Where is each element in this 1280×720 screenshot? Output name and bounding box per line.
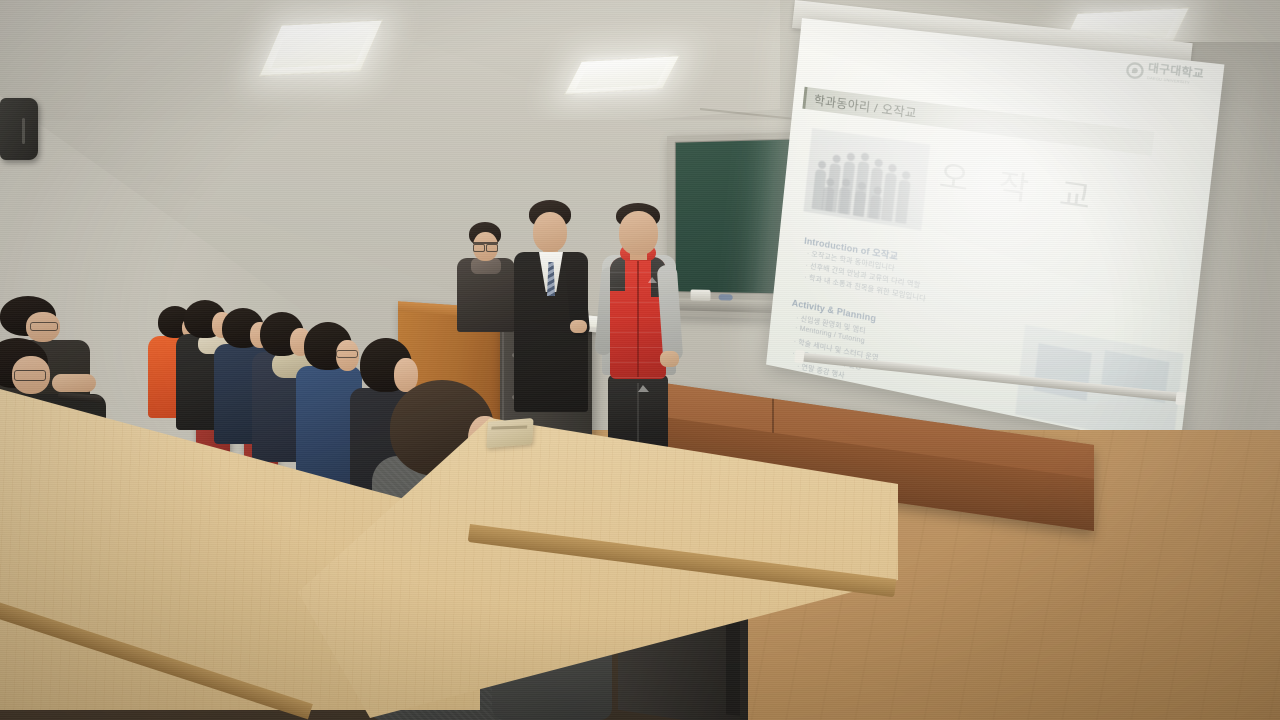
eyeglasses-icon	[30, 322, 58, 331]
screen-endcap-left	[794, 350, 804, 364]
eyeglasses-icon	[473, 242, 498, 248]
screen-endcap-right	[1175, 392, 1185, 406]
chalk-piece	[719, 294, 733, 300]
classroom-presentation-photo: 대구대학교 DAEGU UNIVERSITY 학과동아리 / 오작교 오 작 교…	[0, 0, 1280, 720]
slide-title: 학과동아리 / 오작교	[806, 90, 918, 122]
presenter-in-red-vest	[594, 203, 684, 453]
ceiling-light-center	[564, 55, 681, 95]
wall-speaker	[0, 98, 38, 160]
presenter-at-lectern	[512, 200, 592, 412]
slide-group-photo	[803, 128, 930, 231]
eyeglasses-icon	[336, 350, 358, 358]
university-logo: 대구대학교 DAEGU UNIVERSITY	[1125, 61, 1205, 86]
hand	[52, 374, 96, 392]
presenter-with-glasses	[455, 222, 517, 332]
chalkboard-eraser	[691, 289, 711, 301]
eyeglasses-icon	[14, 370, 46, 381]
paper-bag-on-table	[486, 418, 533, 448]
university-logo-mark	[1125, 61, 1144, 79]
slide-big-word: 오 작 교	[937, 150, 1104, 220]
